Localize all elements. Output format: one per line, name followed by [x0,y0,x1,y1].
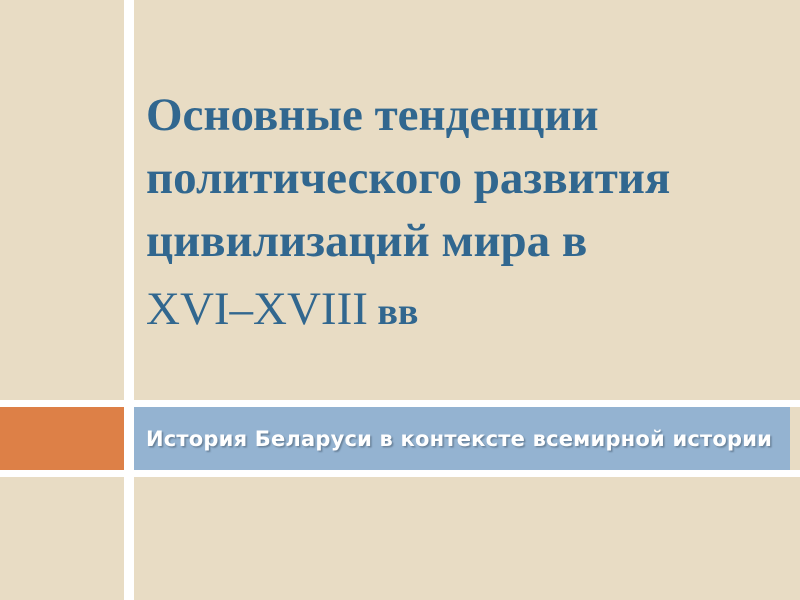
background-panel-main-bottom [134,477,800,600]
title-era-line: XVI–XVIII вв [146,278,418,344]
title-line-1: Основные тенденции [146,84,746,147]
slide-title-lines: Основные тенденции политического развити… [146,84,746,273]
background-panel-left-top [0,0,124,400]
accent-block-orange [0,407,124,470]
subtitle-banner: История Беларуси в контексте всемирной и… [134,407,790,470]
title-line-2: политического развития [146,147,746,210]
background-panel-left-bottom [0,477,124,600]
slide-title: Основные тенденции политического развити… [146,84,746,273]
presentation-slide: Основные тенденции политического развити… [0,0,800,600]
background-panel-right-sliver [790,407,800,470]
title-era-roman: XVI–XVIII [146,283,368,335]
title-line-3: цивилизаций мира в [146,210,746,273]
slide-subtitle: История Беларуси в контексте всемирной и… [146,427,772,451]
title-era-suffix: вв [368,291,419,333]
